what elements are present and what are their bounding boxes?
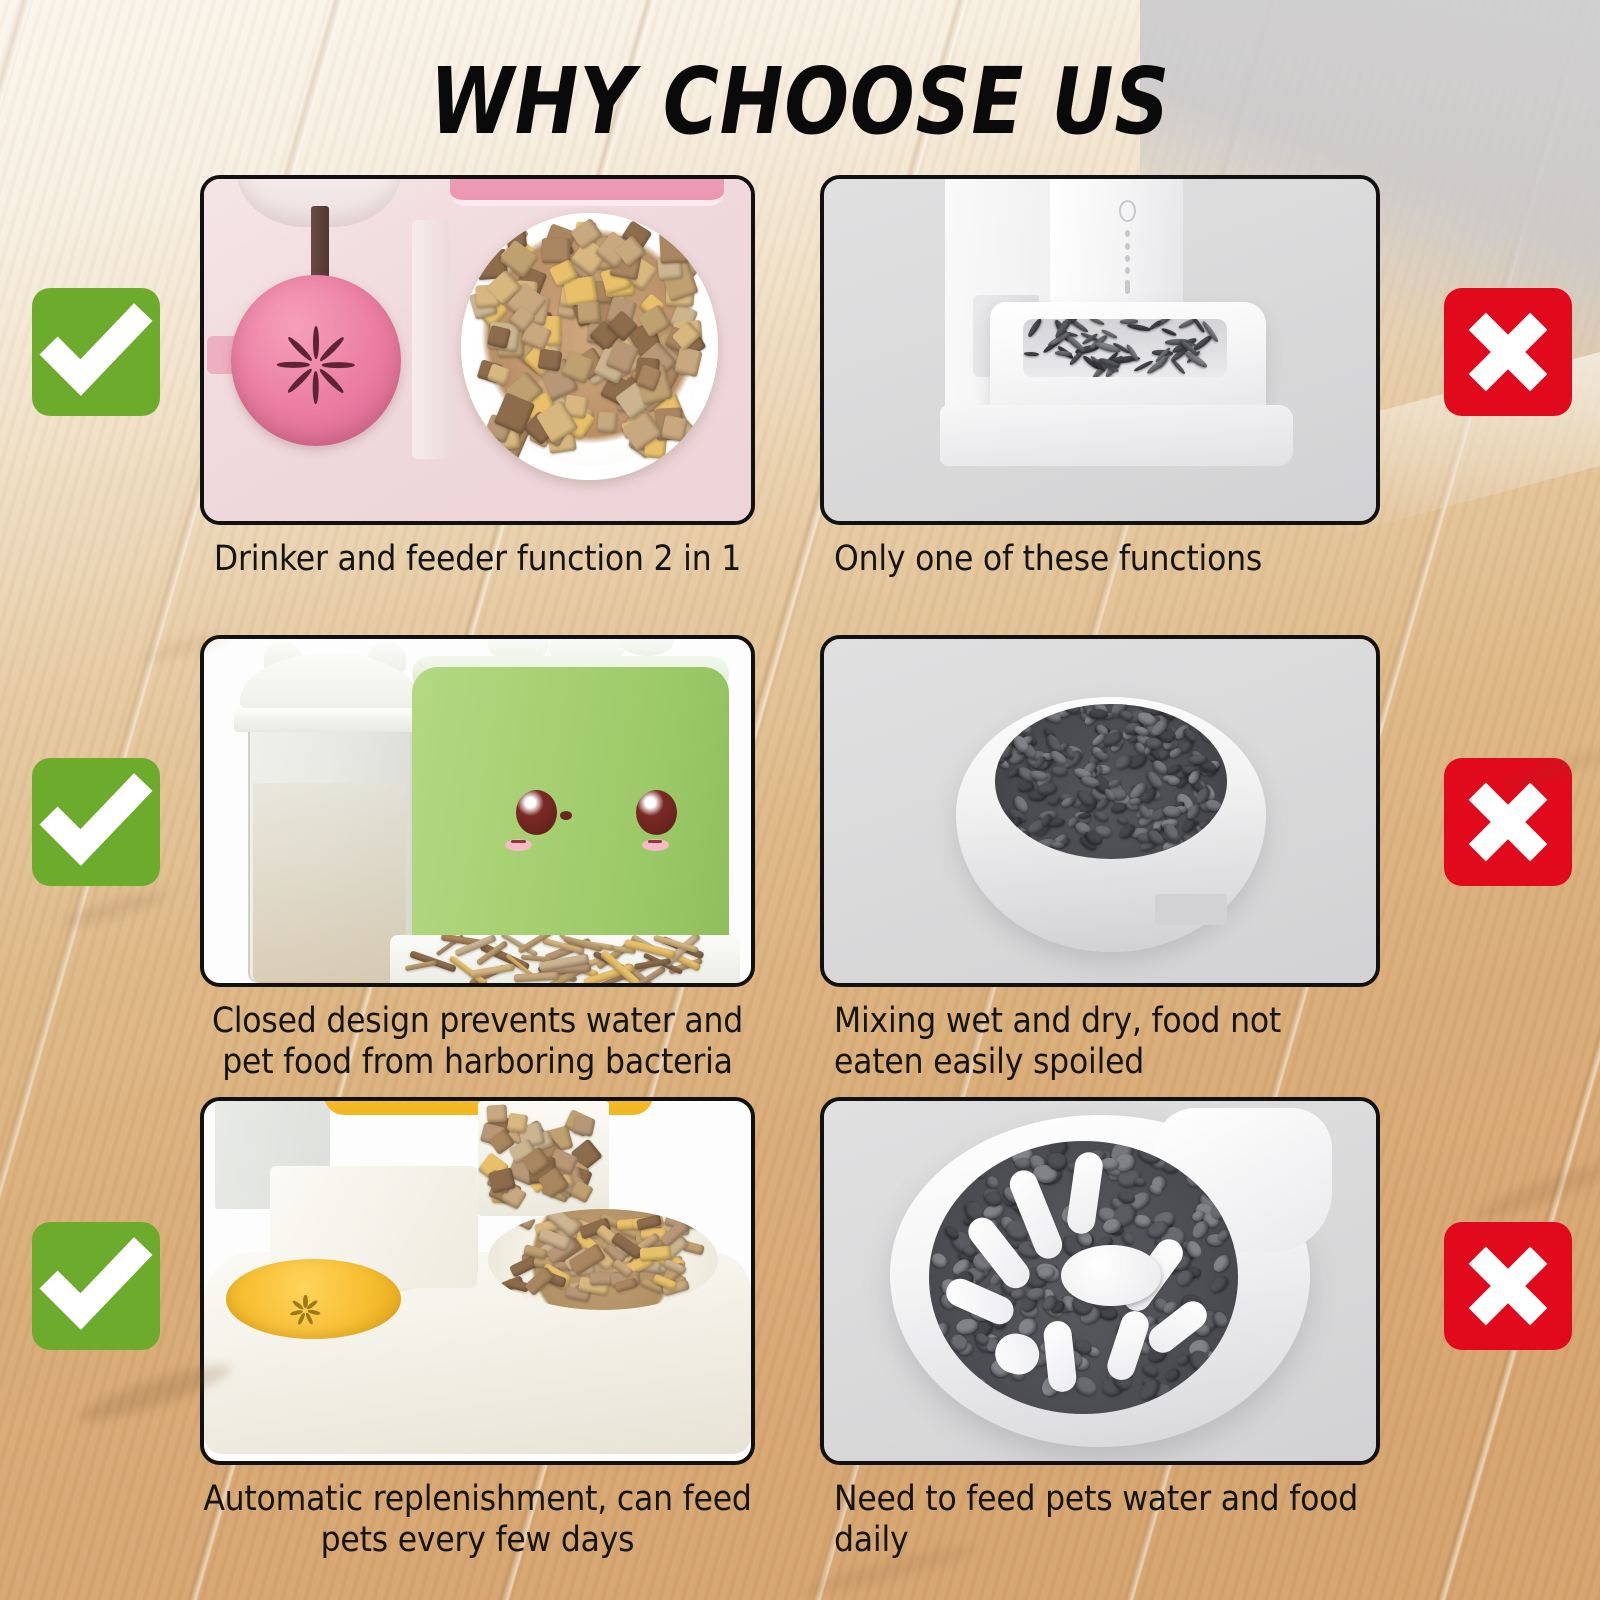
- comparison-row: Drinker and feeder function 2 in 1: [200, 175, 1380, 635]
- kibble-pile: [995, 704, 1227, 859]
- indicator-dot: [1125, 267, 1130, 274]
- kibble-piece: [537, 349, 562, 372]
- kibble-piece: [1055, 350, 1073, 356]
- check-badge-row2: [32, 758, 160, 886]
- kibble-piece: [1093, 809, 1111, 824]
- comparison-row: Closed design prevents water and pet foo…: [200, 635, 1380, 1097]
- kibble-piece: [659, 229, 689, 264]
- check-icon: [32, 758, 160, 886]
- product-image-card[interactable]: [200, 1097, 755, 1465]
- drain-petal: [318, 335, 345, 362]
- feeder-base: [940, 405, 1293, 467]
- cross-badge-row3: [1444, 1222, 1572, 1350]
- check-badge-row3: [32, 1222, 160, 1350]
- check-icon: [32, 1222, 160, 1350]
- kibble-piece: [1210, 1252, 1232, 1275]
- kibble-pile: [1023, 319, 1227, 377]
- feeder-food-tray: [390, 935, 740, 987]
- cross-icon: [1444, 758, 1572, 886]
- white-feeder-photo: [824, 179, 1376, 521]
- page-title: WHY CHOOSE US: [64, 56, 1536, 148]
- kibble-piece: [1024, 351, 1040, 356]
- cartoon-eye-right-icon: [636, 790, 677, 835]
- product-image-card[interactable]: [200, 175, 755, 525]
- comparison-caption: Closed design prevents water and pet foo…: [200, 1001, 755, 1082]
- kibble-piece: [1207, 1273, 1230, 1296]
- drain-petal: [318, 367, 345, 394]
- bottle-water-level: [253, 783, 406, 983]
- food-bowl-with-kibble: [488, 1209, 718, 1310]
- indicator-bar: [1125, 280, 1130, 294]
- product-image-card[interactable]: [200, 635, 755, 987]
- lid-bump: [620, 635, 675, 656]
- cartoon-blush-left-icon: [505, 839, 532, 851]
- kibble-piece: [487, 363, 511, 385]
- comparison-caption: Mixing wet and dry, food not eaten easil…: [820, 1001, 1380, 1082]
- kibble-piece: [1051, 842, 1065, 849]
- comparison-good-column: Automatic replenishment, can feed pets e…: [200, 1097, 755, 1560]
- kibble-piece: [572, 1115, 595, 1137]
- comparison-bad-column: Mixing wet and dry, food not eaten easil…: [820, 635, 1380, 1082]
- indicator-dot: [1125, 255, 1130, 262]
- power-ring-icon: [1119, 200, 1137, 223]
- starburst-drain-icon: [281, 319, 352, 398]
- indicator-dot: [1125, 243, 1130, 250]
- kibble-piece: [1095, 340, 1122, 354]
- cartoon-mouth-icon: [560, 811, 572, 820]
- kibble-piece: [1110, 801, 1128, 814]
- kibble-piece: [1161, 327, 1178, 337]
- cross-badge-row1: [1444, 288, 1572, 416]
- pink-feeder-photo: [204, 179, 751, 521]
- cross-icon: [1444, 288, 1572, 416]
- pink-food-lid: [450, 175, 724, 206]
- kibble-piece: [1163, 1366, 1182, 1385]
- kibble-piece: [1127, 323, 1152, 333]
- food-chute: [478, 1101, 609, 1216]
- comparison-good-column: Drinker and feeder function 2 in 1: [200, 175, 755, 580]
- kibble-piece: [929, 1251, 950, 1271]
- kibble-piece: [486, 1105, 507, 1123]
- kibble-piece: [1052, 766, 1069, 777]
- status-indicator-panel: [1117, 200, 1139, 303]
- product-image-card[interactable]: [820, 635, 1380, 987]
- kibble-piece: [507, 1113, 529, 1134]
- kibble-piece: [1047, 1152, 1068, 1171]
- kibble-piece: [404, 960, 437, 971]
- product-image-card[interactable]: [820, 175, 1380, 525]
- drain-petal: [322, 362, 355, 368]
- check-badge-row1: [32, 288, 160, 416]
- drain-petal: [277, 362, 310, 368]
- comparison-bad-column: Need to feed pets water and food daily: [820, 1097, 1380, 1560]
- grey-kibble-bowl-photo: [824, 639, 1376, 983]
- bottle-cap-ring: [234, 708, 425, 732]
- kibble-piece: [598, 411, 619, 432]
- drain-petal: [313, 326, 319, 359]
- comparison-row: Automatic replenishment, can feed pets e…: [200, 1097, 1380, 1577]
- food-bowl-with-kibble: [461, 213, 718, 480]
- kibble-piece: [1089, 319, 1105, 325]
- kibble-piece: [1141, 1362, 1161, 1379]
- cross-badge-row2: [1444, 758, 1572, 886]
- water-tank-stem: [311, 206, 330, 281]
- cartoon-eye-left-icon: [516, 790, 557, 835]
- drain-petal: [287, 335, 314, 362]
- cross-icon: [1444, 1222, 1572, 1350]
- tray-divider: [412, 220, 450, 459]
- comparison-caption: Need to feed pets water and food daily: [820, 1479, 1380, 1560]
- comparison-grid: Drinker and feeder function 2 in 1: [200, 175, 1380, 1577]
- drain-petal: [287, 367, 314, 394]
- slow-feeder-bowl-photo: [824, 1101, 1376, 1461]
- comparison-caption: Automatic replenishment, can feed pets e…: [200, 1479, 755, 1560]
- bowl-notch: [1155, 894, 1227, 925]
- product-image-card[interactable]: [820, 1097, 1380, 1465]
- comparison-good-column: Closed design prevents water and pet foo…: [200, 635, 755, 1082]
- kibble-piece: [1027, 319, 1043, 338]
- cream-yellow-feeder-photo: [204, 1101, 751, 1461]
- kibble-piece: [674, 347, 702, 377]
- comparison-bad-column: Only one of these functions: [820, 175, 1380, 580]
- check-icon: [32, 288, 160, 416]
- center-nub: [1061, 1245, 1160, 1306]
- kibble-piece: [1120, 1231, 1136, 1247]
- starburst-drain-icon: [281, 1292, 330, 1324]
- indicator-dot: [1125, 230, 1130, 237]
- kibble-piece: [577, 301, 600, 323]
- green-cat-feeder-photo: [204, 639, 751, 983]
- comparison-caption: Only one of these functions: [820, 539, 1380, 580]
- kibble-piece: [930, 1369, 946, 1381]
- comparison-caption: Drinker and feeder function 2 in 1: [200, 539, 755, 580]
- kibble-piece: [1072, 1373, 1100, 1399]
- cartoon-blush-right-icon: [642, 839, 669, 851]
